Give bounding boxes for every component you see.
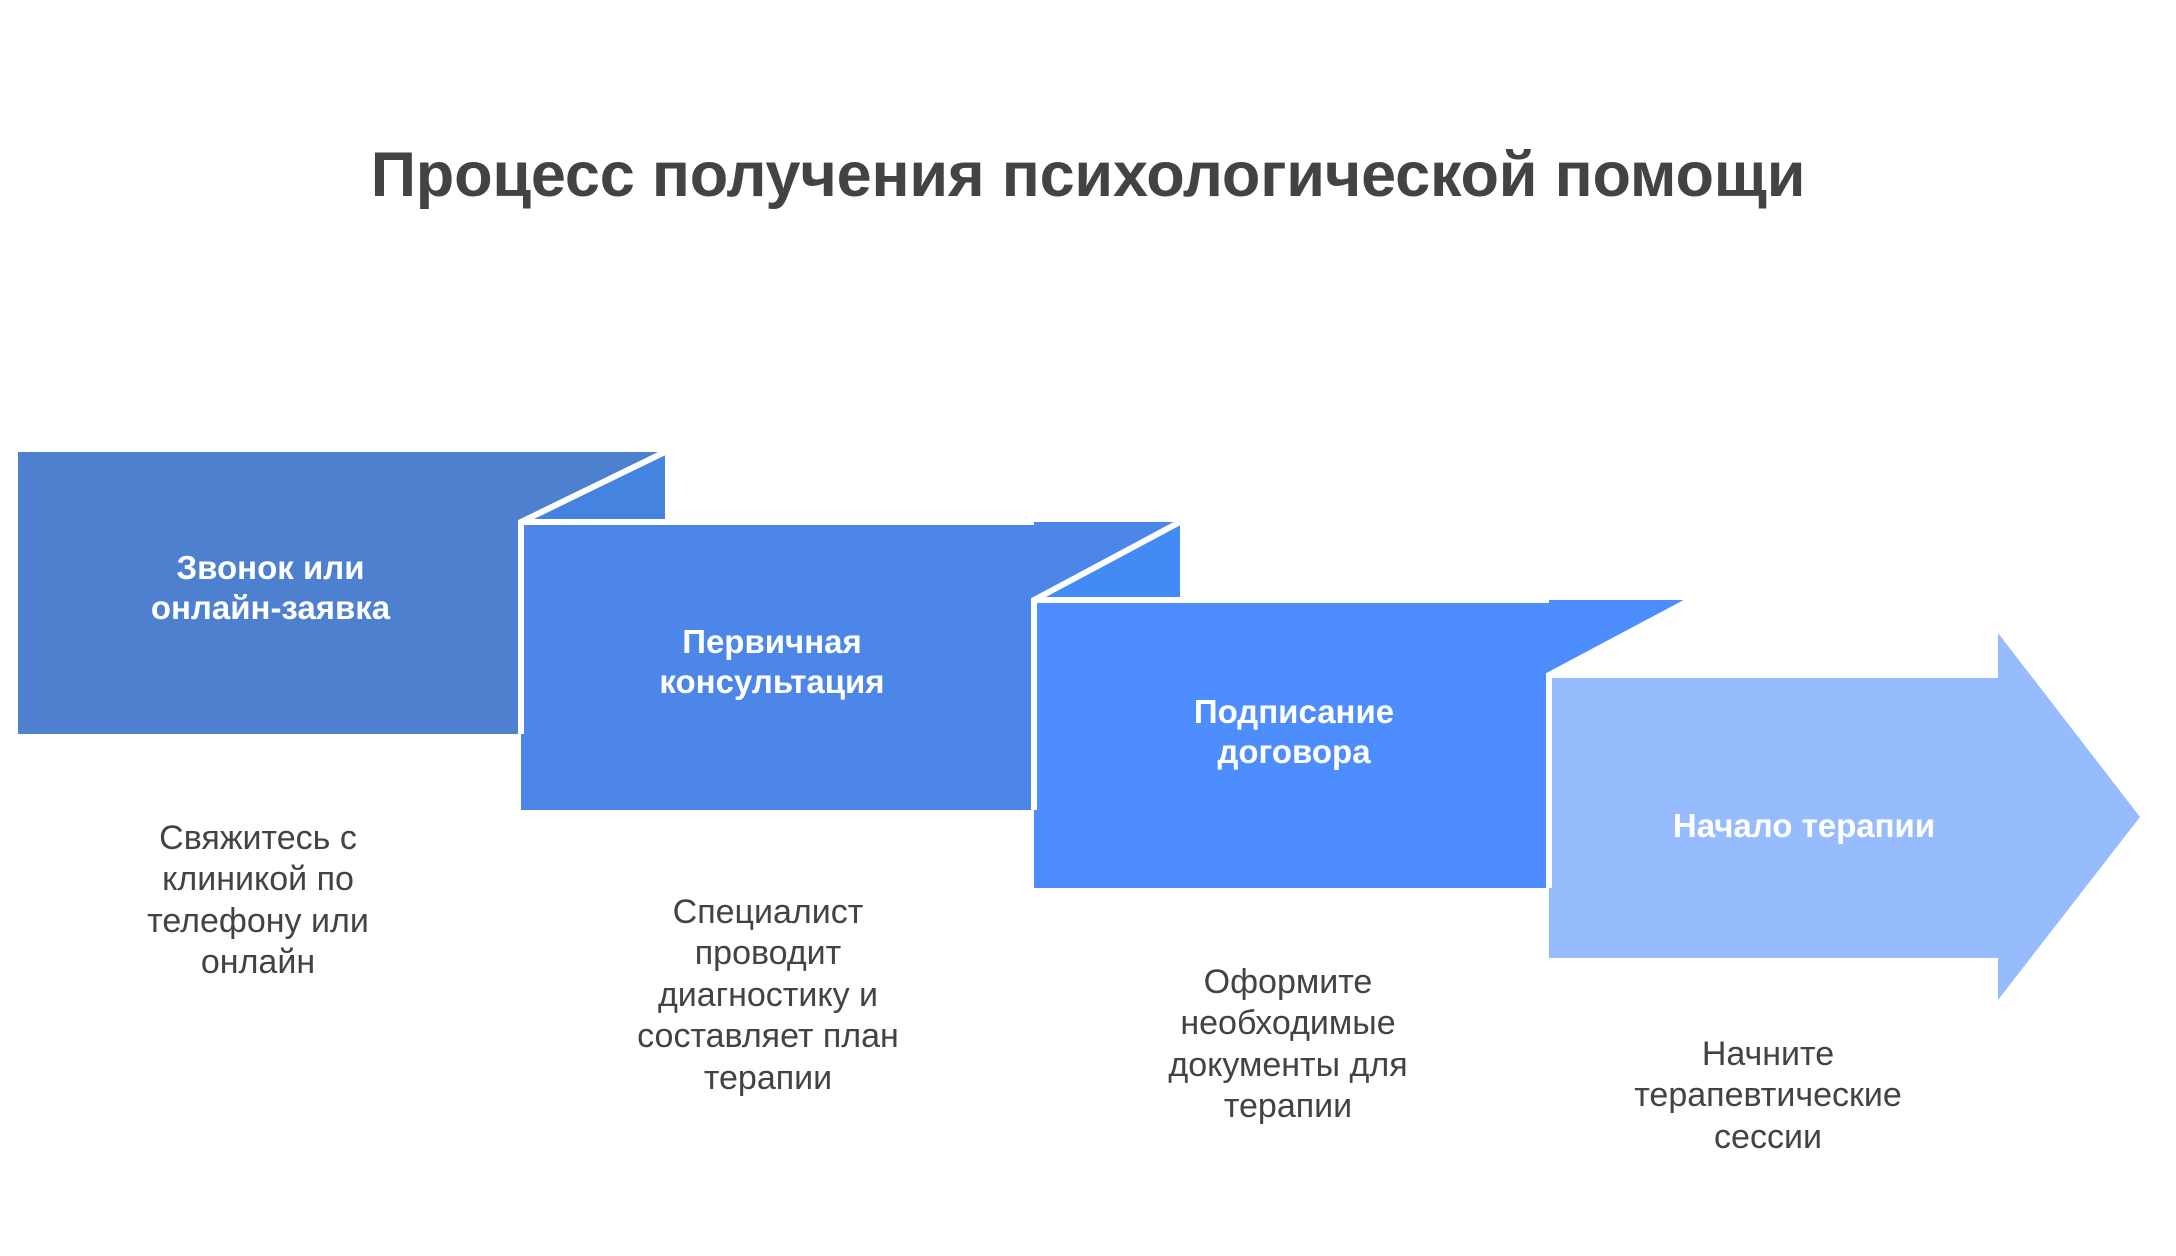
step-2-caption: Специалист проводит диагностику и состав… [568, 892, 968, 1099]
step-shape-4[interactable] [1549, 603, 2140, 1000]
page-title: Процесс получения психологической помощи [0, 139, 2176, 211]
step-1-heading: Звонок или онлайн-заявка [18, 548, 523, 629]
step-2-heading: Первичная консультация [523, 622, 1021, 703]
step-1-caption: Свяжитесь с клиникой по телефону или онл… [58, 818, 458, 984]
step-3-upper-wedge [1034, 600, 1690, 675]
step-3-caption: Оформите необходимые документы для терап… [1088, 962, 1488, 1128]
slide-canvas: Процесс получения психологической помощи [0, 0, 2176, 1256]
step-4-heading: Начало терапии [1555, 806, 2053, 846]
step-3-heading: Подписание договора [1040, 692, 1548, 773]
step-4-caption: Начните терапевтические сессии [1558, 1034, 1978, 1158]
